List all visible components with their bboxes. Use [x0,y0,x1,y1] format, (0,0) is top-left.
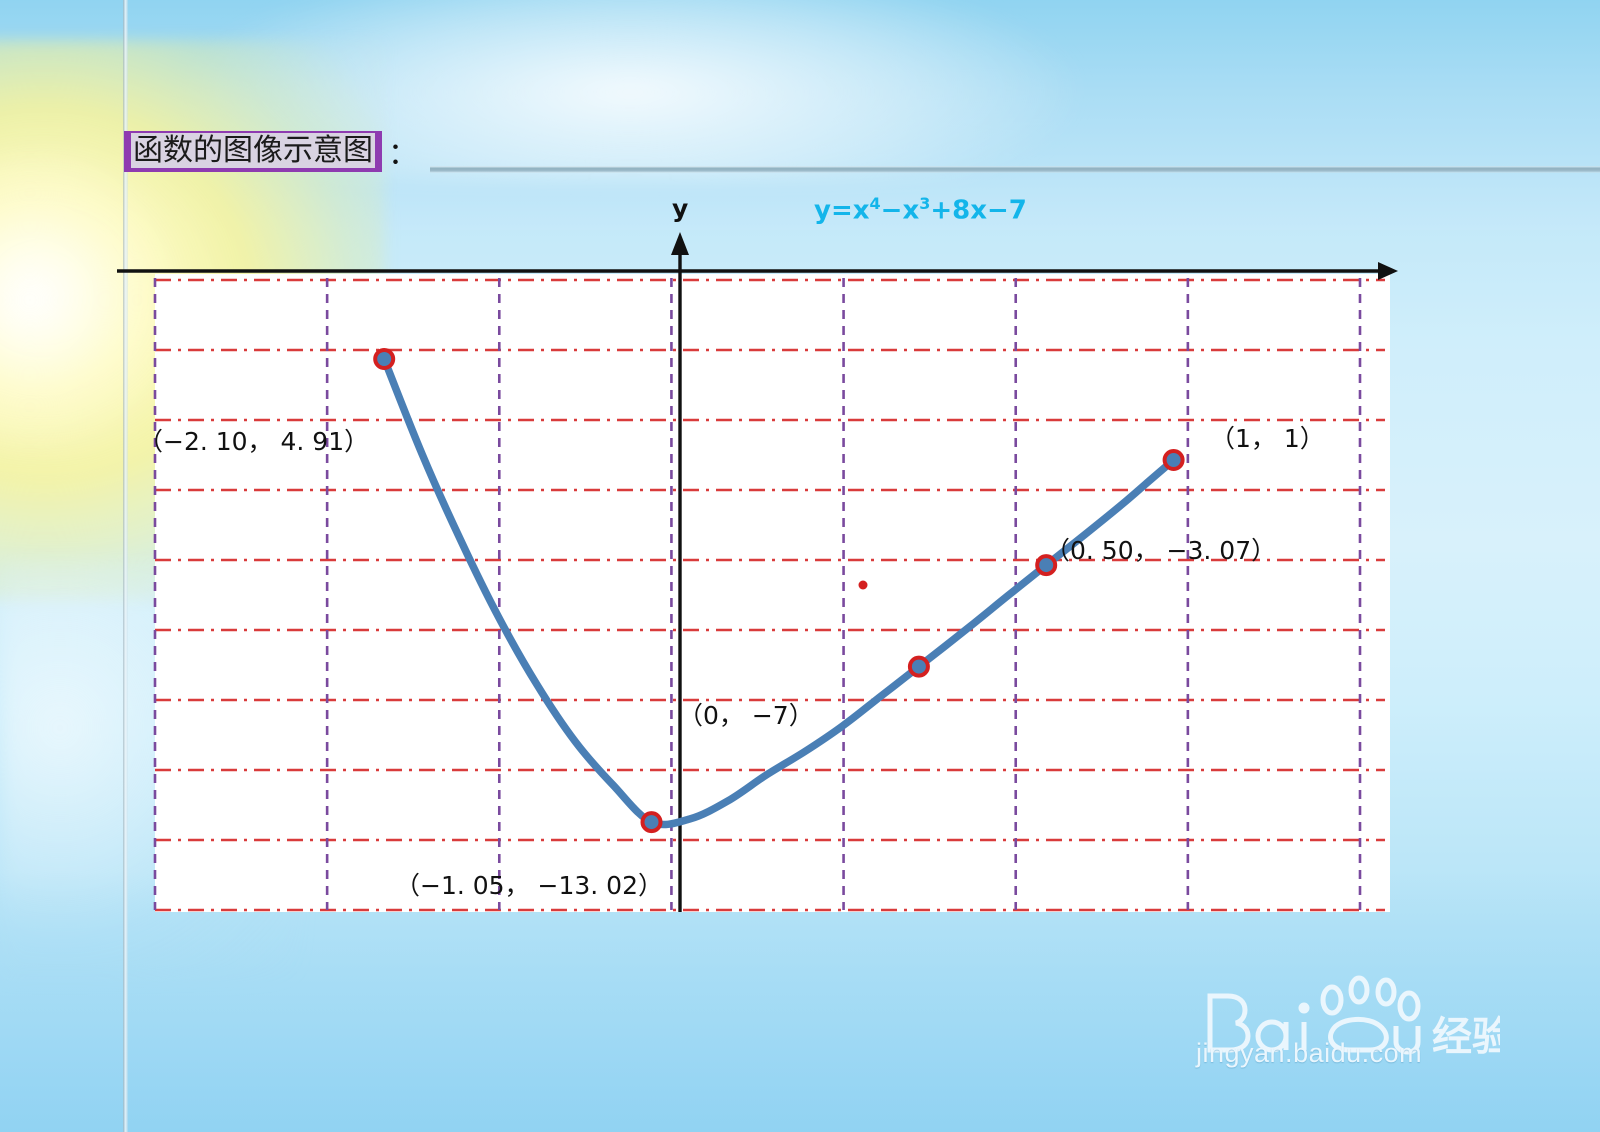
point-label-minimum: （−1. 05， −13. 02） [395,866,663,902]
data-point-right-endpoint [1165,451,1183,469]
horizontal-gridlines [155,280,1385,910]
data-point-y-intercept [910,658,928,676]
watermark-brand-cn: 经验 [1432,1014,1500,1060]
function-curve [384,359,1173,825]
vertical-gridlines [155,278,1360,910]
equation-lhs: y=x [814,196,870,226]
y-axis-label: y [672,194,688,223]
y-axis [671,232,689,912]
x-axis-arrow [1378,262,1398,280]
x-axis [117,262,1398,280]
plot-svg [0,0,1600,1132]
point-label-y-intercept: （0， −7） [678,696,814,732]
point-label-right-endpoint: （1， 1） [1210,419,1325,455]
equation-mid: −x [881,196,920,226]
equation-exponent-3: 3 [919,194,930,213]
data-point-markers [375,350,1182,831]
watermark-url: jingyan.baidu.com [1196,1038,1422,1069]
function-graph: y y=x4−x3+8x−7 （−2. 10， 4. 91） （−1. 05， … [0,0,1600,1132]
equation-label: y=x4−x3+8x−7 [814,194,1027,226]
equation-rhs: +8x−7 [930,196,1027,226]
curve-tick-dot [859,581,868,590]
data-point-left-endpoint [375,350,393,368]
point-label-left-endpoint: （−2. 10， 4. 91） [138,422,369,458]
equation-exponent-4: 4 [870,194,881,213]
y-axis-arrow [671,232,689,255]
point-label-mid-point: （0. 50， −3. 07） [1045,531,1276,567]
data-point-minimum [643,813,661,831]
